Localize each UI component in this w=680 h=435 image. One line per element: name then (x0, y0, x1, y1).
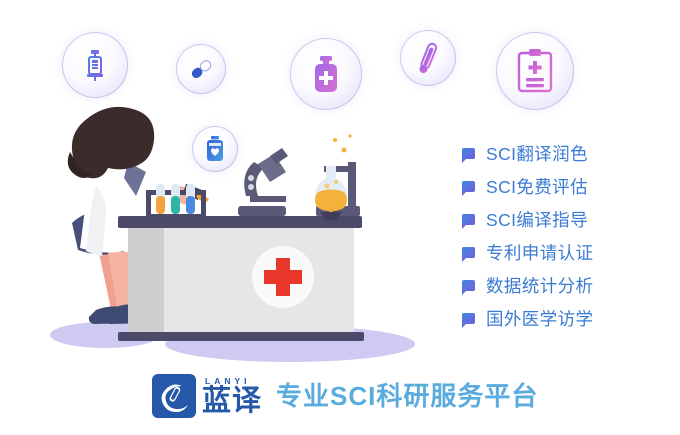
bullet-speech-icon (462, 280, 475, 291)
service-item[interactable]: 国外医学访学 (462, 302, 677, 335)
bubble-syringe (62, 32, 128, 98)
bullet-speech-icon (462, 313, 475, 324)
service-item[interactable]: SCI编译指导 (462, 203, 677, 236)
bench-base (118, 332, 364, 341)
bubble-capsule (176, 44, 226, 94)
microscope-knob-2 (248, 175, 254, 181)
syringe-icon (78, 48, 112, 82)
capsule-pill-icon (188, 56, 214, 82)
lanyi-mark-icon (157, 379, 191, 413)
clipboard-record-icon (515, 48, 555, 94)
bubble-thermometer (400, 30, 456, 86)
service-label: SCI翻译润色 (486, 141, 588, 166)
brand-tagline: 专业SCI科研服务平台 (276, 374, 538, 418)
bench-side-shade (128, 228, 164, 336)
red-cross-horizontal (264, 270, 302, 284)
service-label: 数据统计分析 (486, 273, 593, 298)
brand-chinese-text: 蓝译 (202, 386, 262, 417)
sparkle-3 (348, 134, 351, 137)
bullet-speech-icon (462, 214, 475, 225)
service-label: 专利申请认证 (486, 240, 593, 265)
microscope-knob (248, 184, 254, 190)
sparkle-1 (342, 148, 347, 153)
service-label: 国外医学访学 (486, 306, 593, 331)
bubble-medicine-bottle-heart (192, 126, 238, 172)
brand-footer: LANYI 蓝译 专业SCI科研服务平台 (152, 374, 538, 418)
bullet-speech-icon (462, 181, 475, 192)
service-list: SCI翻译润色 SCI免费评估 SCI编译指导 专利申请认证 数据统计分析 国外… (462, 137, 677, 335)
medicine-bottle-cross-icon (308, 55, 344, 93)
bubble-clipboard (496, 32, 574, 110)
flask-liquid (315, 190, 347, 212)
medicine-bottle-heart-icon (204, 136, 226, 162)
flask-bubble-2 (334, 180, 338, 184)
test-tube-3-liquid (186, 196, 195, 214)
thermometer-icon (413, 41, 443, 75)
test-tube-1-liquid (156, 196, 165, 214)
test-tube-2-liquid (171, 196, 180, 214)
bullet-speech-icon (462, 148, 475, 159)
sparkle-2 (333, 138, 337, 142)
service-item[interactable]: 专利申请认证 (462, 236, 677, 269)
service-item[interactable]: 数据统计分析 (462, 269, 677, 302)
microscope-stage (250, 196, 286, 202)
brand-latin-text: LANYI (205, 376, 262, 386)
service-item[interactable]: SCI免费评估 (462, 170, 677, 203)
microscope-base (238, 206, 286, 216)
brand-wordmark: LANYI 蓝译 (202, 374, 262, 418)
lab-bench (118, 216, 364, 341)
bubble-medicine-bottle (290, 38, 362, 110)
flask-stand (315, 134, 360, 220)
service-label: SCI编译指导 (486, 207, 588, 232)
rack-base (146, 214, 206, 219)
poster-canvas: SCI翻译润色 SCI免费评估 SCI编译指导 专利申请认证 数据统计分析 国外… (0, 0, 680, 435)
lanyi-logo-mark (152, 374, 196, 418)
flask-bubble-1 (325, 184, 330, 189)
bullet-speech-icon (462, 247, 475, 258)
service-label: SCI免费评估 (486, 174, 588, 199)
microscope-icon (238, 148, 288, 216)
service-item[interactable]: SCI翻译润色 (462, 137, 677, 170)
